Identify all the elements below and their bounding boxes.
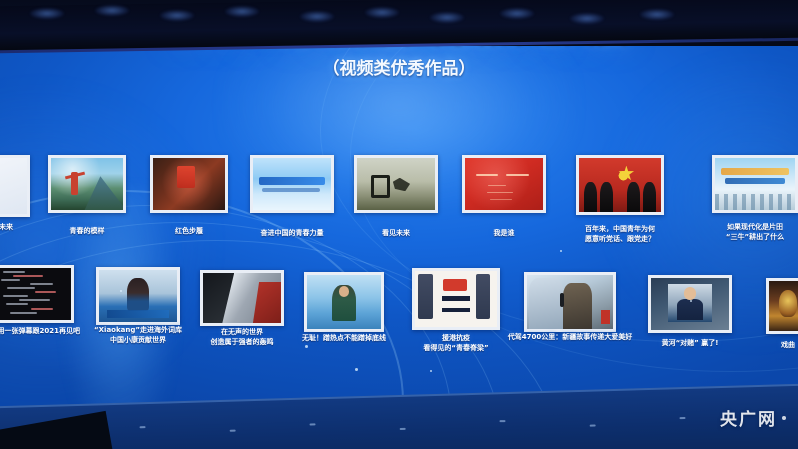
thumbnail-artwork [527,275,613,329]
thumbnail-caption: 奋进中国的青春力量 [232,228,352,238]
art-opera-mask [779,290,797,317]
thumbnail-caption: 红色步履 [132,226,246,236]
thumbnail-artwork [465,158,543,210]
art-danmu-line [13,275,43,277]
thumbnail-artwork [579,158,661,212]
art-lower-third [107,310,169,318]
thumbnail-artwork [415,271,497,327]
light-sparkle [690,300,692,302]
thumbnail-artwork [769,281,798,331]
art-danmu-line [1,279,20,281]
ceiling-lights [0,2,798,32]
watermark-dot-icon [782,416,786,420]
stage-photo: 2022“好评中国”网络评论大赛 （视频类优秀作品） 未来青春的模样红色步履奋进… [0,0,798,449]
ceiling-light [500,8,534,19]
art-char [476,274,491,319]
thumbnail-artwork [0,268,71,320]
light-sparkle [430,370,432,372]
art-english-text [442,296,470,313]
thumbnail-card [766,278,798,334]
ceiling-light [640,9,674,20]
art-person [127,278,149,310]
art-person-2 [563,283,592,329]
ceiling-light [430,12,464,23]
art-danmu-line [6,303,28,305]
art-head [643,182,656,212]
ceiling-light [570,13,604,24]
art-red-shape [253,282,281,323]
thumbnail-artwork [51,158,123,210]
ceiling-light [30,8,64,19]
thumbnail-caption: “Xiaokang”走进海外词库 中国小康贡献世界 [78,325,198,345]
thumbnail-caption: 百年来，中国青年为何 愿意听党话、跟党走？ [558,224,682,244]
art-ink-b [393,178,410,192]
art-ink-a [371,175,390,199]
light-sparkle [120,290,122,292]
watermark-label: 央广网 [720,405,777,430]
floor-speckle [230,430,236,432]
floor-speckle [310,423,316,425]
thumbnail-artwork [203,273,281,323]
thumbnail-caption: 无耻！蹭热点不能蹭掉底线 [286,333,402,343]
art-line [490,199,512,200]
art-head [584,182,597,212]
thumbnail-caption: 我是谁 [444,228,564,238]
floor-speckle [499,420,505,422]
thumbnail-card [524,272,616,332]
thumbnail-card [462,155,546,213]
ceiling-light [160,10,194,21]
art-dark-shape [203,273,234,323]
art-line [476,174,498,176]
art-head [600,182,613,212]
floor-speckle [590,425,596,427]
thumbnail-artwork [307,275,381,329]
thumbnail-artwork [651,278,729,330]
art-title-band [259,177,325,185]
art-danmu-line [35,291,56,293]
thumbnail-card [200,270,284,326]
thumbnail-artwork [99,270,177,322]
floor-speckle [400,428,406,430]
thumbnail-card [648,275,732,333]
art-headline [721,168,788,174]
art-danmu-line [7,287,35,289]
art-person-1 [529,278,563,329]
thumbnail-card [0,155,30,217]
art-danmu-line [3,271,25,273]
art-line [487,192,514,193]
thumbnail-card [412,268,500,330]
art-calligraphy [177,166,196,188]
art-danmu-line [30,283,54,285]
art-microphone [560,293,564,307]
light-sparkle [355,368,358,371]
thumbnail-card [576,155,664,215]
art-face [339,286,349,297]
thumbnail-artwork [715,158,795,210]
thumbnail-caption: 戏曲 [748,340,798,350]
art-headline-2 [725,178,786,184]
floor-speckle [140,426,146,428]
thumbnail-card [96,267,180,325]
thumbnail-card [354,155,438,213]
page-subtitle: （视频类优秀作品） [0,54,798,79]
ceiling-light [225,6,259,17]
thumbnail-caption: 代驾4700公里：新疆故事传递大爱美好 [506,332,634,342]
ceiling-light [95,5,129,16]
broadcaster-watermark: 央广网 [720,405,786,430]
thumbnail-card [712,155,798,213]
thumbnail-artwork [153,158,225,210]
art-danmu-line [31,308,53,310]
thumbnail-caption: 黄河“对赌” 赢了! [630,338,750,348]
art-red-accent [601,310,610,324]
thumbnail-card [304,272,384,332]
light-sparkle [305,345,308,348]
thumbnail-caption: 看见未来 [336,228,456,238]
art-line [488,185,505,186]
thumbnail-caption: 青春的模样 [30,226,144,236]
art-danmu-line [19,299,50,301]
art-char [418,274,433,319]
ceiling-light [365,7,399,18]
thumbnail-artwork [253,158,331,210]
art-danmu-line [10,312,37,314]
ceiling-light [300,11,334,22]
floor-speckle [679,417,685,419]
art-subline [262,188,320,192]
art-head [627,182,640,212]
thumbnail-card [150,155,228,213]
thumbnail-caption: 如果现代化是片田 “三牛”耕出了什么 [694,222,798,242]
art-skyline [715,194,795,210]
art-head [684,287,696,299]
thumbnail-card [0,265,74,323]
art-danmu-line [3,295,28,297]
light-sparkle [560,250,562,252]
thumbnail-card [250,155,334,213]
thumbnail-caption: 援港抗疫 看得见的“青春脊梁” [394,333,518,353]
thumbnail-caption: 在无声的世界 创造属于强者的轰鸣 [182,327,302,347]
art-peak [83,176,123,210]
thumbnail-artwork [0,158,27,214]
art-red-box [443,279,468,291]
thumbnail-card [48,155,126,213]
art-line [506,174,529,176]
thumbnail-artwork [357,158,435,210]
